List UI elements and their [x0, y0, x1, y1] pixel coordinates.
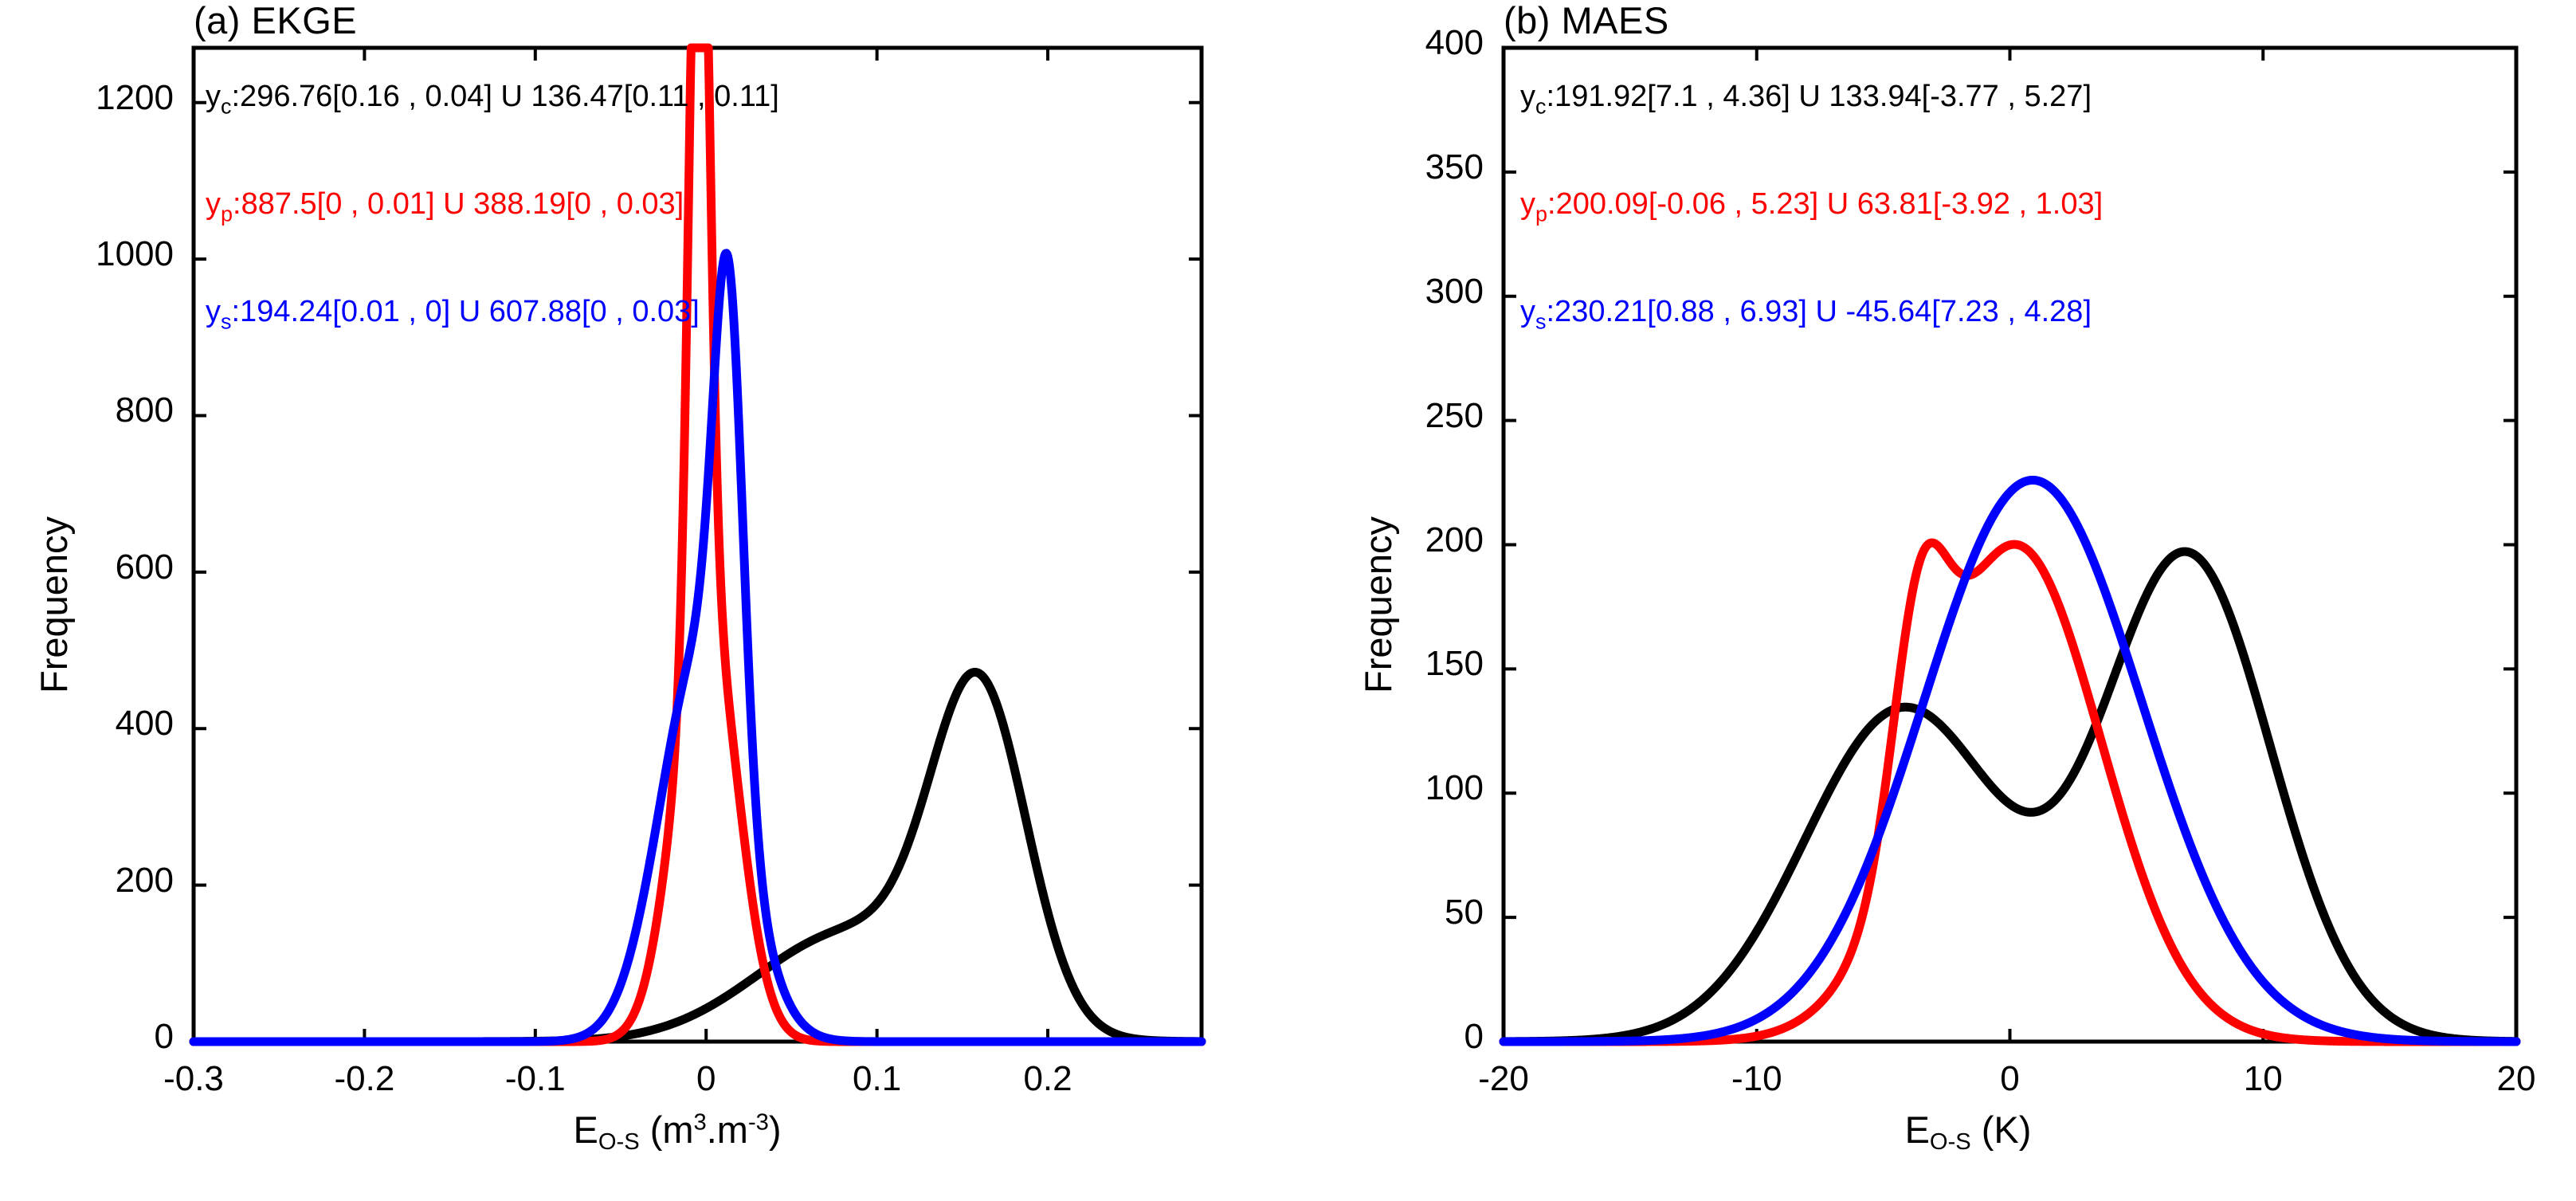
y-tick-label: 600 [6, 548, 174, 587]
y-tick-label: 50 [1316, 893, 1484, 932]
y-tick-label: 400 [1316, 23, 1484, 63]
panel-a-xlabel: EO-S (m3.m-3) [478, 1108, 876, 1156]
panel-b-xlabel-sub: O-S [1930, 1129, 1971, 1155]
panel-b-xlabel-unit: (K) [1982, 1109, 2032, 1151]
annot-subscript: s [1535, 309, 1547, 333]
curve-y-c [1504, 551, 2516, 1042]
curve-y-c [194, 672, 1202, 1042]
panel-a: (a) EKGE Frequency EO-S (m3.m-3) yc:296.… [0, 0, 1339, 1201]
annot-sym: y [1520, 187, 1535, 221]
panel-a-annotation-yp: yp:887.5[0 , 0.01] U 388.19[0 , 0.03] [206, 187, 684, 226]
y-tick-label: 150 [1316, 644, 1484, 684]
y-tick-label: 0 [1316, 1017, 1484, 1057]
figure-root: (a) EKGE Frequency EO-S (m3.m-3) yc:296.… [0, 0, 2576, 1201]
x-tick-label: 0 [634, 1059, 778, 1099]
y-tick-label: 300 [1316, 272, 1484, 312]
x-tick-label: 10 [2191, 1059, 2335, 1099]
x-tick-label: 20 [2445, 1059, 2576, 1099]
annot-sym: y [1520, 295, 1535, 328]
panel-b-annotation-yp: yp:200.09[-0.06 , 5.23] U 63.81[-3.92 , … [1520, 187, 2103, 226]
x-tick-label: -10 [1685, 1059, 1829, 1099]
annot-text: :230.21[0.88 , 6.93] U -45.64[7.23 , 4.2… [1547, 295, 2092, 328]
annot-sym: y [1520, 80, 1535, 113]
curve-y-s [1504, 480, 2516, 1042]
y-tick-label: 250 [1316, 396, 1484, 436]
x-tick-label: -0.3 [122, 1059, 265, 1099]
annot-text: :887.5[0 , 0.01] U 388.19[0 , 0.03] [233, 187, 684, 221]
panel-b: (b) MAES Frequency EO-S (K) yc:191.92[7.… [1339, 0, 2576, 1201]
panel-b-annotation-yc: yc:191.92[7.1 , 4.36] U 133.94[-3.77 , 5… [1520, 80, 2092, 119]
y-tick-label: 350 [1316, 147, 1484, 187]
annot-subscript: p [1535, 202, 1547, 226]
annot-text: :296.76[0.16 , 0.04] U 136.47[0.11 , 0.1… [232, 80, 779, 113]
annot-text: :191.92[7.1 , 4.36] U 133.94[-3.77 , 5.2… [1547, 80, 2092, 113]
annot-subscript: p [221, 202, 233, 226]
annot-subscript: c [1535, 94, 1547, 118]
x-tick-label: -20 [1432, 1059, 1575, 1099]
y-tick-label: 1200 [6, 78, 174, 118]
annot-sym: y [206, 187, 221, 221]
panel-b-xlabel-main: E [1905, 1109, 1930, 1151]
panel-a-xlabel-unit: (m3.m-3) [650, 1109, 782, 1151]
panel-a-annotation-ys: ys:194.24[0.01 , 0] U 607.88[0 , 0.03] [206, 295, 700, 334]
annot-sym: y [206, 295, 221, 328]
y-tick-label: 200 [1316, 520, 1484, 560]
panel-a-xlabel-sub: O-S [598, 1129, 640, 1155]
y-tick-label: 0 [6, 1017, 174, 1057]
x-tick-label: 0 [1939, 1059, 2082, 1099]
panel-b-xlabel: EO-S (K) [1769, 1108, 2167, 1156]
x-tick-label: 0.1 [806, 1059, 949, 1099]
annot-subscript: s [221, 309, 232, 333]
annot-text: :194.24[0.01 , 0] U 607.88[0 , 0.03] [232, 295, 700, 328]
y-tick-label: 800 [6, 391, 174, 430]
annot-text: :200.09[-0.06 , 5.23] U 63.81[-3.92 , 1.… [1547, 187, 2103, 221]
panel-a-plot [0, 0, 1339, 1201]
panel-a-xlabel-main: E [574, 1109, 598, 1151]
curve-y-p [1504, 543, 2516, 1042]
panel-b-annotation-ys: ys:230.21[0.88 , 6.93] U -45.64[7.23 , 4… [1520, 295, 2092, 334]
panel-a-annotation-yc: yc:296.76[0.16 , 0.04] U 136.47[0.11 , 0… [206, 80, 779, 119]
annot-sym: y [206, 80, 221, 113]
y-tick-label: 200 [6, 861, 174, 901]
y-tick-label: 400 [6, 704, 174, 744]
annot-subscript: c [221, 94, 232, 118]
x-tick-label: -0.2 [292, 1059, 436, 1099]
y-tick-label: 100 [1316, 768, 1484, 808]
x-tick-label: 0.2 [976, 1059, 1119, 1099]
panel-b-plot [1339, 0, 2576, 1201]
x-tick-label: -0.1 [464, 1059, 607, 1099]
y-tick-label: 1000 [6, 234, 174, 274]
